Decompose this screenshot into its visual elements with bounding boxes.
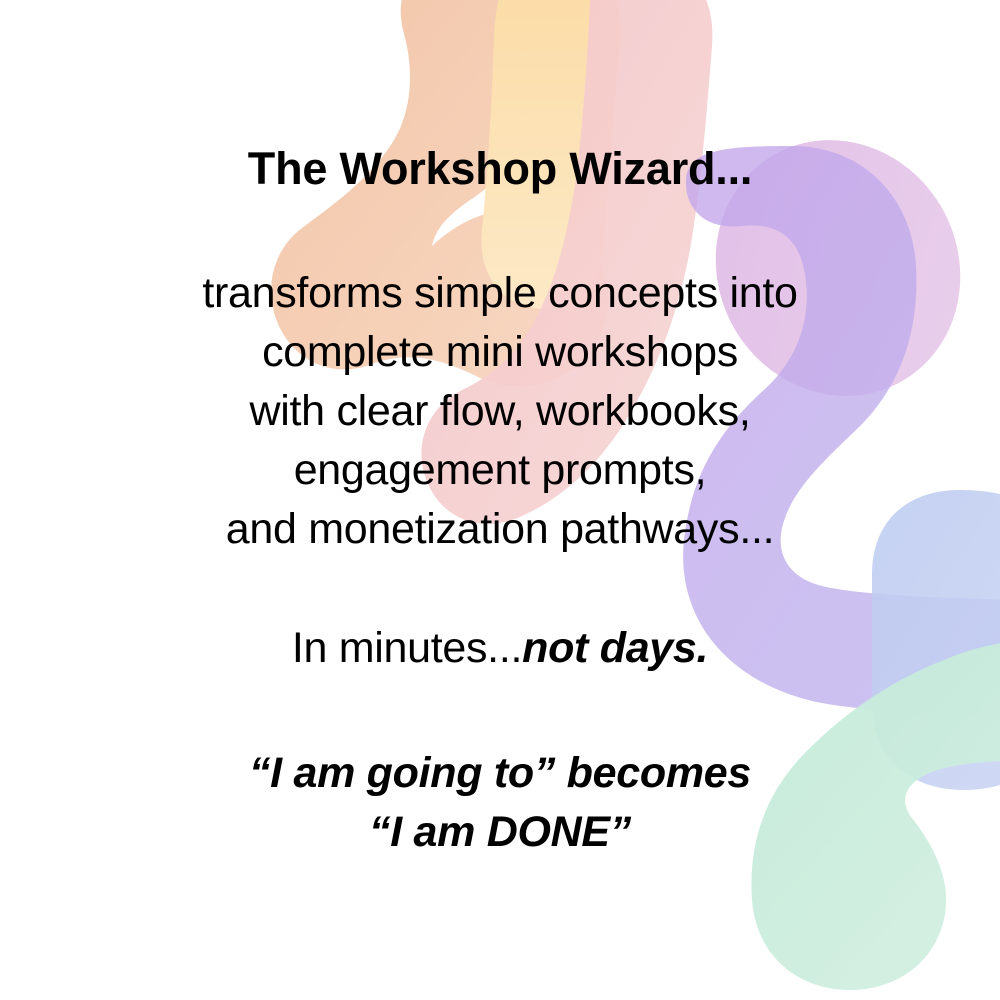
body-line-5: and monetization pathways... [0,500,1000,559]
quote-line-2: “I am DONE” [0,803,1000,862]
body-line-3: with clear flow, workbooks, [0,382,1000,441]
page-title: The Workshop Wizard... [0,144,1000,194]
body-line-1: transforms simple concepts into [0,264,1000,323]
slide-canvas: The Workshop Wizard... transforms simple… [0,0,1000,1000]
body-line-4: engagement prompts, [0,441,1000,500]
body-paragraph: transforms simple concepts into complete… [0,264,1000,559]
speed-statement-lead: In minutes... [292,624,522,672]
body-line-2: complete mini workshops [0,323,1000,382]
transformation-quote: “I am going to” becomes “I am DONE” [0,744,1000,862]
speed-statement-emphasis: not days. [522,624,708,672]
quote-line-1: “I am going to” becomes [0,744,1000,803]
slide-text-content: The Workshop Wizard... transforms simple… [0,0,1000,1000]
speed-statement: In minutes...not days. [0,624,1000,673]
